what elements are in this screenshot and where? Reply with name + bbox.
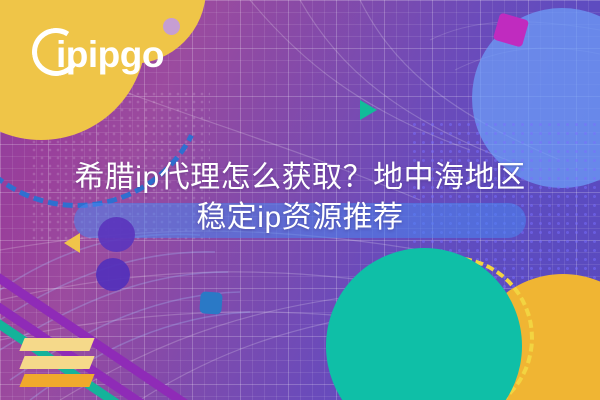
brand-logo-text: ipipgo (56, 36, 164, 73)
lilac-dot (163, 18, 180, 35)
teal-triangle (360, 100, 377, 120)
page-title-line-2: 稳定ip资源推荐 (26, 198, 574, 238)
yellow-bars-group (22, 338, 92, 392)
yellow-bar-1 (19, 338, 94, 351)
indigo-dot-lower (96, 258, 130, 291)
page-title-line-1: 希腊ip代理怎么获取？地中海地区 (74, 161, 525, 194)
blue-square (199, 291, 222, 314)
page-title: 希腊ip代理怎么获取？地中海地区 稳定ip资源推荐 (0, 158, 600, 238)
banner-image: ipipgo 希腊ip代理怎么获取？地中海地区 稳定ip资源推荐 (0, 0, 600, 400)
brand-logo: ipipgo (32, 26, 140, 82)
yellow-bar-3 (19, 374, 94, 387)
yellow-bar-2 (19, 356, 94, 369)
